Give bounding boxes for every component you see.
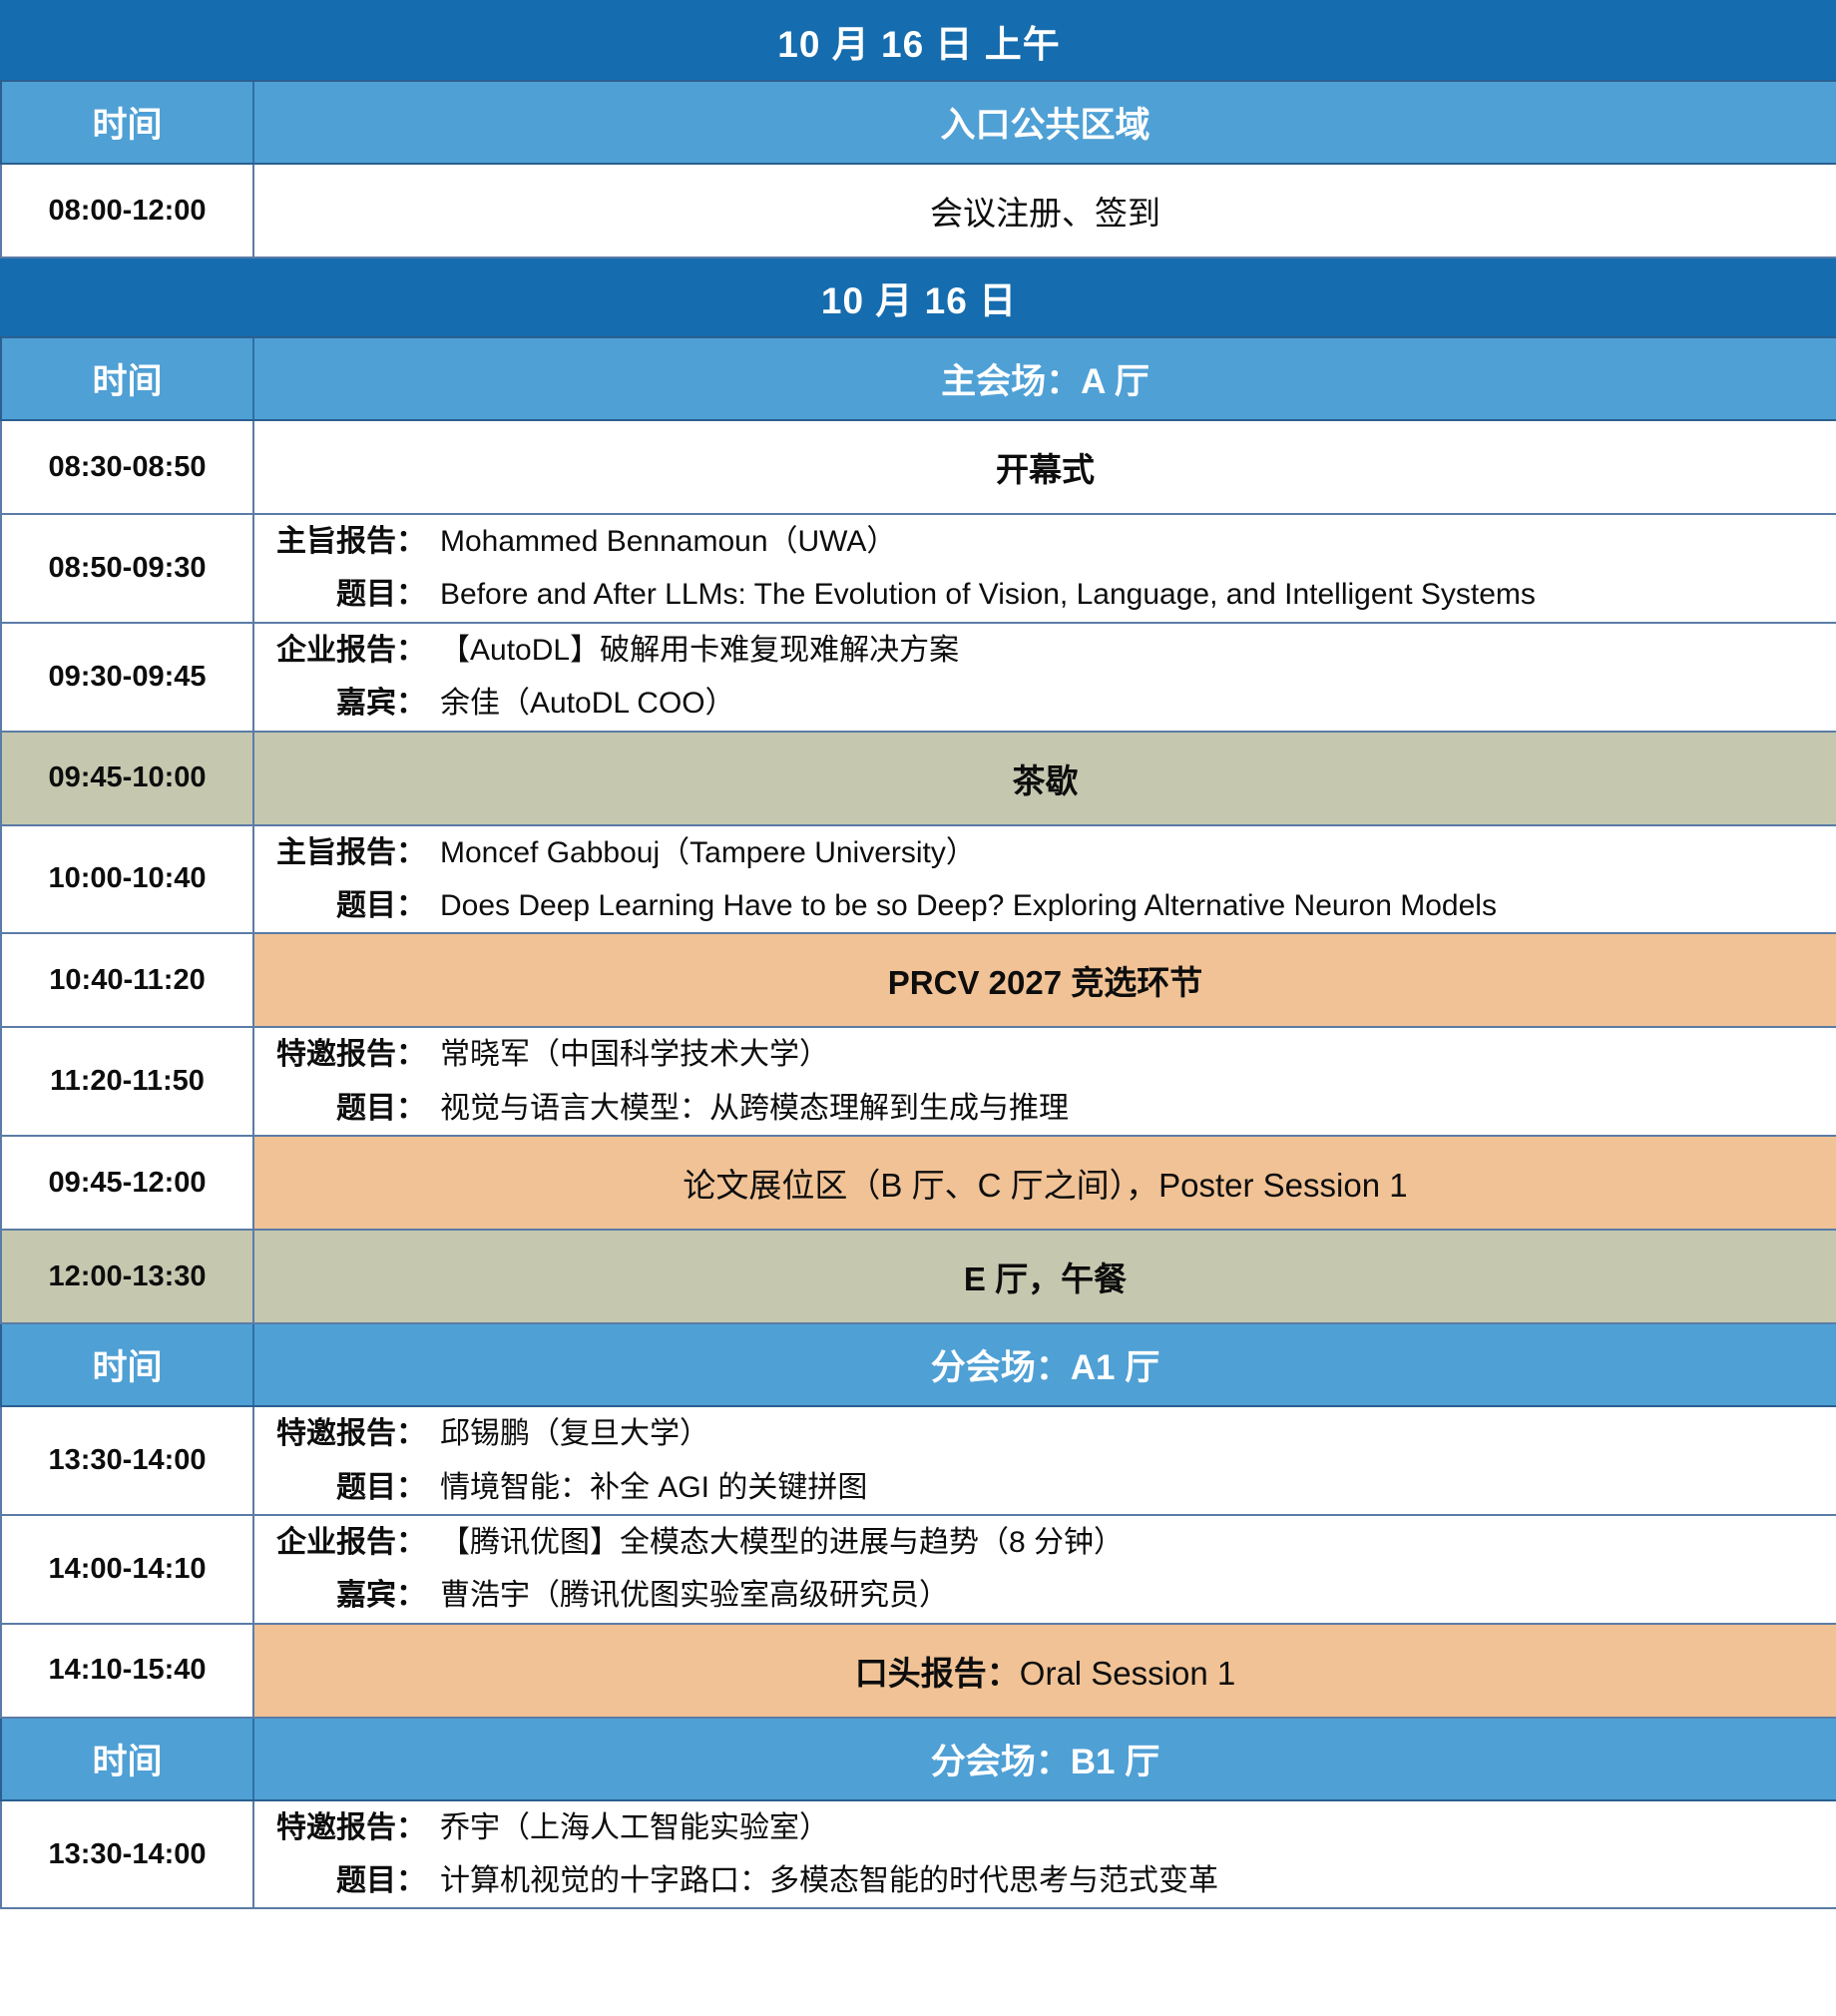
- column-header-time: 时间: [1, 337, 253, 420]
- schedule-row: 10:00-10:40主旨报告：Moncef Gabbouj（Tampere U…: [1, 825, 1836, 934]
- conference-schedule-table: 10 月 16 日 上午时间入口公共区域08:00-12:00会议注册、签到10…: [0, 0, 1836, 1909]
- schedule-entry-body: 乔宇（上海人工智能实验室）: [426, 1807, 1818, 1848]
- session-title-name: Oral Session 1: [1020, 1655, 1235, 1692]
- schedule-entry-label: 嘉宾：: [276, 683, 426, 724]
- schedule-row: 12:00-13:30E 厅，午餐: [1, 1230, 1836, 1323]
- schedule-time-cell: 08:50-09:30: [1, 514, 253, 623]
- schedule-entry-label: 题目：: [276, 1467, 426, 1508]
- schedule-time-cell: 10:00-10:40: [1, 825, 253, 934]
- schedule-entry-label: 题目：: [276, 1088, 426, 1129]
- schedule-content-cell: 主旨报告：Moncef Gabbouj（Tampere University）题…: [253, 825, 1836, 934]
- schedule-content-cell: 特邀报告：常晓军（中国科学技术大学）题目：视觉与语言大模型：从跨模态理解到生成与…: [253, 1027, 1836, 1136]
- schedule-row: 13:30-14:00特邀报告：邱锡鹏（复旦大学）题目：情境智能：补全 AGI …: [1, 1406, 1836, 1515]
- schedule-time-cell: 10:40-11:20: [1, 933, 253, 1027]
- schedule-entry-body: 视觉与语言大模型：从跨模态理解到生成与推理: [426, 1088, 1818, 1129]
- schedule-entry-label: 特邀报告：: [276, 1413, 426, 1454]
- schedule-entry-body: Moncef Gabbouj（Tampere University）: [426, 832, 1818, 873]
- schedule-entry-label: 特邀报告：: [276, 1807, 426, 1848]
- column-header-venue: 分会场：B1 厅: [253, 1718, 1836, 1800]
- schedule-entry-label: 主旨报告：: [276, 521, 426, 562]
- schedule-content-cell: PRCV 2027 竞选环节: [253, 933, 1836, 1027]
- schedule-time-cell: 09:30-09:45: [1, 623, 253, 732]
- schedule-row-title: 开幕式: [254, 421, 1836, 513]
- schedule-row-title: PRCV 2027 竞选环节: [254, 934, 1836, 1026]
- schedule-session-title: 口头报告：Oral Session 1: [254, 1625, 1836, 1717]
- schedule-content-cell: E 厅，午餐: [253, 1230, 1836, 1323]
- column-header-venue: 主会场：A 厅: [253, 337, 1836, 420]
- schedule-row-title: 会议注册、签到: [254, 165, 1836, 256]
- schedule-row-title: E 厅，午餐: [254, 1231, 1836, 1322]
- schedule-entry: 特邀报告：邱锡鹏（复旦大学）: [254, 1407, 1836, 1460]
- schedule-content-cell: 企业报告：【AutoDL】破解用卡难复现难解决方案嘉宾：余佳（AutoDL CO…: [253, 623, 1836, 732]
- schedule-entry: 特邀报告：常晓军（中国科学技术大学）: [254, 1028, 1836, 1081]
- schedule-row: 14:10-15:40口头报告：Oral Session 1: [1, 1624, 1836, 1718]
- schedule-time-cell: 14:10-15:40: [1, 1624, 253, 1718]
- day-banner-label: 10 月 16 日 上午: [1, 1, 1836, 81]
- schedule-content-cell: 主旨报告：Mohammed Bennamoun（UWA）题目：Before an…: [253, 514, 1836, 623]
- schedule-entry-body: Does Deep Learning Have to be so Deep? E…: [426, 885, 1818, 926]
- section-header-row: 时间分会场：A1 厅: [1, 1323, 1836, 1406]
- schedule-entry-body: Mohammed Bennamoun（UWA）: [426, 521, 1818, 562]
- schedule-entry-label: 主旨报告：: [276, 832, 426, 873]
- column-header-venue: 入口公共区域: [253, 81, 1836, 164]
- schedule-entry-label: 题目：: [276, 1860, 426, 1901]
- schedule-entry-label: 题目：: [276, 574, 426, 615]
- schedule-entry-body: 【腾讯优图】全模态大模型的进展与趋势（8 分钟）: [426, 1522, 1818, 1563]
- schedule-entry-body: 曹浩宇（腾讯优图实验室高级研究员）: [426, 1575, 1818, 1616]
- schedule-entry: 题目：视觉与语言大模型：从跨模态理解到生成与推理: [254, 1082, 1836, 1135]
- schedule-entry-label: 企业报告：: [276, 1522, 426, 1563]
- schedule-time-cell: 08:00-12:00: [1, 164, 253, 257]
- day-banner-row: 10 月 16 日: [1, 257, 1836, 337]
- schedule-row: 08:50-09:30主旨报告：Mohammed Bennamoun（UWA）题…: [1, 514, 1836, 623]
- schedule-entry-label: 题目：: [276, 885, 426, 926]
- schedule-row: 14:00-14:10企业报告：【腾讯优图】全模态大模型的进展与趋势（8 分钟）…: [1, 1515, 1836, 1624]
- schedule-time-cell: 08:30-08:50: [1, 420, 253, 514]
- schedule-entry: 嘉宾：余佳（AutoDL COO）: [254, 677, 1836, 730]
- schedule-entry: 题目：Before and After LLMs: The Evolution …: [254, 568, 1836, 621]
- schedule-content-cell: 论文展位区（B 厅、C 厅之间），Poster Session 1: [253, 1136, 1836, 1230]
- schedule-time-cell: 13:30-14:00: [1, 1800, 253, 1909]
- schedule-entry-body: 情境智能：补全 AGI 的关键拼图: [426, 1467, 1818, 1508]
- schedule-time-cell: 09:45-10:00: [1, 732, 253, 825]
- schedule-time-cell: 09:45-12:00: [1, 1136, 253, 1230]
- schedule-content-cell: 会议注册、签到: [253, 164, 1836, 257]
- schedule-row: 09:45-10:00茶歇: [1, 732, 1836, 825]
- schedule-content-cell: 特邀报告：乔宇（上海人工智能实验室）题目：计算机视觉的十字路口：多模态智能的时代…: [253, 1800, 1836, 1909]
- schedule-entry-body: 余佳（AutoDL COO）: [426, 683, 1818, 724]
- schedule-entry: 题目：Does Deep Learning Have to be so Deep…: [254, 879, 1836, 932]
- schedule-row: 11:20-11:50特邀报告：常晓军（中国科学技术大学）题目：视觉与语言大模型…: [1, 1027, 1836, 1136]
- schedule-entry: 主旨报告：Mohammed Bennamoun（UWA）: [254, 515, 1836, 568]
- schedule-entry-label: 特邀报告：: [276, 1034, 426, 1075]
- schedule-entry: 主旨报告：Moncef Gabbouj（Tampere University）: [254, 826, 1836, 879]
- section-header-row: 时间分会场：B1 厅: [1, 1718, 1836, 1800]
- column-header-time: 时间: [1, 81, 253, 164]
- column-header-time: 时间: [1, 1718, 253, 1800]
- schedule-row: 10:40-11:20PRCV 2027 竞选环节: [1, 933, 1836, 1027]
- schedule-entry-body: Before and After LLMs: The Evolution of …: [426, 574, 1818, 615]
- schedule-entry: 企业报告：【腾讯优图】全模态大模型的进展与趋势（8 分钟）: [254, 1516, 1836, 1569]
- schedule-content-cell: 开幕式: [253, 420, 1836, 514]
- schedule-time-cell: 13:30-14:00: [1, 1406, 253, 1515]
- schedule-row: 08:00-12:00会议注册、签到: [1, 164, 1836, 257]
- schedule-entry-body: 常晓军（中国科学技术大学）: [426, 1034, 1818, 1075]
- schedule-entry: 特邀报告：乔宇（上海人工智能实验室）: [254, 1801, 1836, 1854]
- schedule-row: 09:30-09:45企业报告：【AutoDL】破解用卡难复现难解决方案嘉宾：余…: [1, 623, 1836, 732]
- schedule-entry: 题目：情境智能：补全 AGI 的关键拼图: [254, 1461, 1836, 1514]
- schedule-entry-body: 计算机视觉的十字路口：多模态智能的时代思考与范式变革: [426, 1860, 1818, 1901]
- section-header-row: 时间入口公共区域: [1, 81, 1836, 164]
- schedule-row-title: 茶歇: [254, 733, 1836, 824]
- session-title-prefix: 口头报告：: [855, 1655, 1020, 1692]
- schedule-entry: 题目：计算机视觉的十字路口：多模态智能的时代思考与范式变革: [254, 1854, 1836, 1907]
- schedule-time-cell: 11:20-11:50: [1, 1027, 253, 1136]
- schedule-entry-label: 企业报告：: [276, 630, 426, 671]
- schedule-content-cell: 口头报告：Oral Session 1: [253, 1624, 1836, 1718]
- schedule-row: 09:45-12:00论文展位区（B 厅、C 厅之间），Poster Sessi…: [1, 1136, 1836, 1230]
- schedule-row: 08:30-08:50开幕式: [1, 420, 1836, 514]
- schedule-time-cell: 12:00-13:30: [1, 1230, 253, 1323]
- schedule-entry-body: 邱锡鹏（复旦大学）: [426, 1413, 1818, 1454]
- schedule-entry: 企业报告：【AutoDL】破解用卡难复现难解决方案: [254, 624, 1836, 677]
- day-banner-label: 10 月 16 日: [1, 257, 1836, 337]
- schedule-row: 13:30-14:00特邀报告：乔宇（上海人工智能实验室）题目：计算机视觉的十字…: [1, 1800, 1836, 1909]
- schedule-content-cell: 茶歇: [253, 732, 1836, 825]
- schedule-content-cell: 企业报告：【腾讯优图】全模态大模型的进展与趋势（8 分钟）嘉宾：曹浩宇（腾讯优图…: [253, 1515, 1836, 1624]
- schedule-content-cell: 特邀报告：邱锡鹏（复旦大学）题目：情境智能：补全 AGI 的关键拼图: [253, 1406, 1836, 1515]
- column-header-time: 时间: [1, 1323, 253, 1406]
- schedule-entry-label: 嘉宾：: [276, 1575, 426, 1616]
- schedule-time-cell: 14:00-14:10: [1, 1515, 253, 1624]
- section-header-row: 时间主会场：A 厅: [1, 337, 1836, 420]
- schedule-row-title: 论文展位区（B 厅、C 厅之间），Poster Session 1: [254, 1137, 1836, 1229]
- column-header-venue: 分会场：A1 厅: [253, 1323, 1836, 1406]
- day-banner-row: 10 月 16 日 上午: [1, 1, 1836, 81]
- schedule-entry: 嘉宾：曹浩宇（腾讯优图实验室高级研究员）: [254, 1569, 1836, 1622]
- schedule-entry-body: 【AutoDL】破解用卡难复现难解决方案: [426, 630, 1818, 671]
